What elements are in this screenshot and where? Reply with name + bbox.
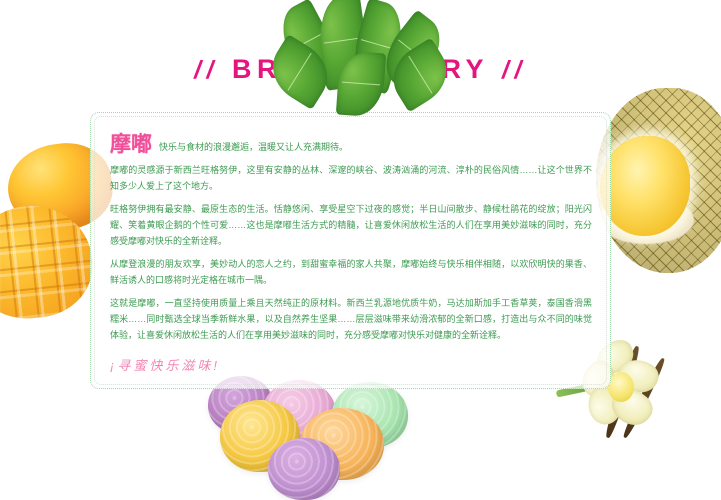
story-paragraph-3: 从摩登浪漫的朋友欢享，美妙动人的恋人之约，到甜蜜幸福的家人共聚，摩嘟始终与快乐相… (110, 256, 592, 288)
page-title: // BRAND STORY // (0, 56, 721, 83)
page-canvas: // BRAND STORY // 摩嘟 快乐与食材的浪漫邂逅，温暖又让人充满期… (0, 0, 721, 451)
durian-body (596, 88, 721, 273)
page-title-text: // BRAND STORY // (194, 56, 527, 83)
title-slash-left: // (194, 56, 219, 84)
durian-flesh (600, 136, 690, 236)
brand-lockup: 摩嘟 快乐与食材的浪漫邂逅，温暖又让人充满期待。 (110, 134, 592, 155)
brand-story-content: 摩嘟 快乐与食材的浪漫邂逅，温暖又让人充满期待。 摩嘟的灵感源于新西兰旺格努伊，… (110, 134, 592, 374)
title-label: BRAND STORY (232, 54, 489, 84)
story-paragraph-1: 摩嘟的灵感源于新西兰旺格努伊，这里有安静的丛林、深邃的峡谷、波涛汹涌的河流、淳朴… (110, 162, 592, 194)
vanilla-petal-right (613, 354, 662, 399)
vanilla-bean-2 (621, 357, 667, 440)
ice-cream-scoops-image (218, 382, 548, 454)
story-paragraph-4: 这就是摩嘟，一直坚持使用质量上乘且天然纯正的原材料。新西兰乳源地优质牛奶，马达加… (110, 295, 592, 343)
vanilla-petal-bottom-right (606, 381, 658, 433)
mango-diced (0, 200, 98, 324)
durian-rind (598, 196, 694, 244)
brand-tagline: 快乐与食材的浪漫邂逅，温暖又让人充满期待。 (159, 142, 348, 155)
story-paragraph-2: 旺格努伊拥有最安静、最原生态的生活。恬静悠闲、享受星空下过夜的感觉；半日山间散步… (110, 201, 592, 249)
durian-spikes (596, 88, 721, 273)
brand-story-panel: 摩嘟 快乐与食材的浪漫邂逅，温暖又让人充满期待。 摩嘟的灵感源于新西兰旺格努伊，… (90, 112, 611, 389)
scoop-orange (300, 408, 384, 480)
brand-slogan: ¡寻蜜快乐滋味! (110, 355, 592, 374)
scoop-green (332, 382, 408, 448)
scoop-pink (262, 380, 336, 446)
durian-fruit-image (596, 88, 721, 273)
scoop-yellow (220, 400, 300, 472)
brand-logo: 摩嘟 (110, 134, 152, 155)
title-slash-right: // (502, 56, 527, 84)
vanilla-flower-core (608, 372, 634, 402)
scoop-purple-2 (268, 438, 340, 500)
